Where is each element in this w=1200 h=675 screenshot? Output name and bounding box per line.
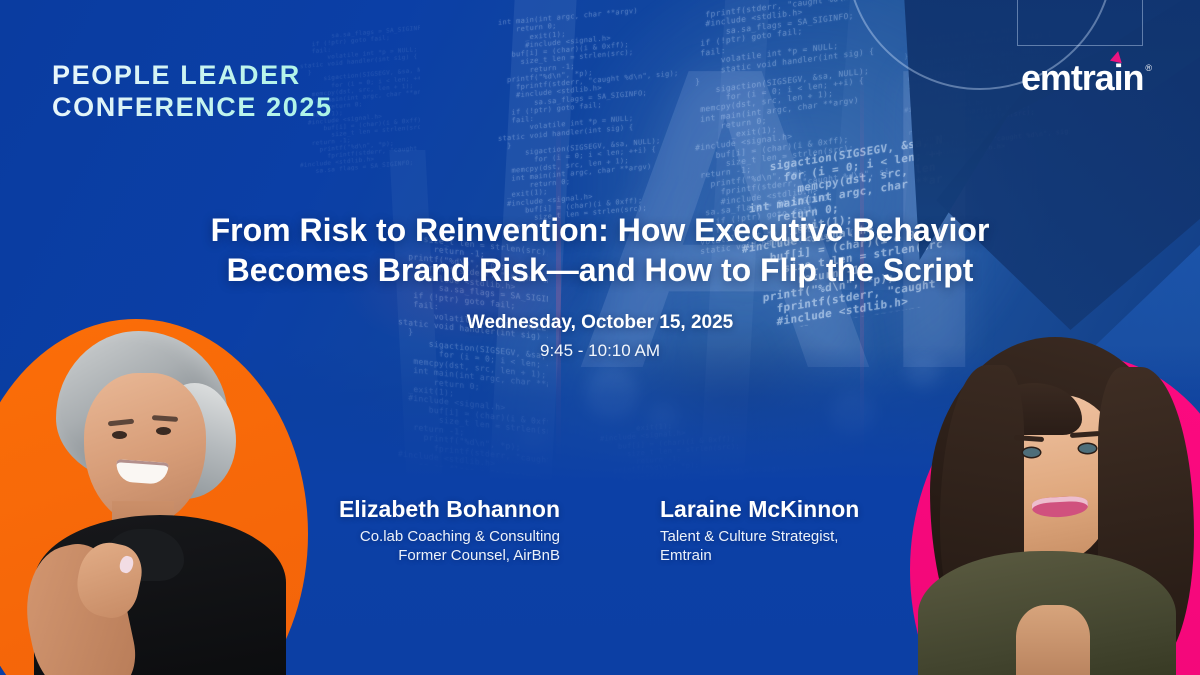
shirt-shape: [1016, 605, 1090, 675]
eye-shape: [112, 431, 127, 439]
speaker-role: Talent & Culture Strategist, Emtrain: [660, 527, 920, 567]
speaker-block-right: Laraine McKinnon Talent & Culture Strate…: [660, 496, 920, 566]
registered-trademark-mark: ®: [1145, 63, 1152, 73]
session-card: AI int main(int argc, char **argv) retur…: [0, 0, 1200, 675]
session-title: From Risk to Reinvention: How Executive …: [0, 210, 1200, 291]
speaker-role: Co.lab Coaching & Consulting Former Coun…: [300, 527, 560, 567]
emtrain-logo[interactable]: emtrain ®: [1021, 60, 1152, 96]
rectangle-outline-decoration: [1017, 0, 1143, 46]
eye-shape: [156, 427, 171, 435]
speaker-list: Elizabeth Bohannon Co.lab Coaching & Con…: [300, 496, 920, 566]
speaker-name: Laraine McKinnon: [660, 496, 920, 523]
eye-shape: [1079, 444, 1096, 453]
speaker-block-left: Elizabeth Bohannon Co.lab Coaching & Con…: [300, 496, 560, 566]
session-date: Wednesday, October 15, 2025: [0, 312, 1200, 334]
eye-shape: [1023, 448, 1040, 457]
emtrain-logo-wordmark: emtrain: [1021, 60, 1143, 96]
triangle-accent-icon: [1110, 50, 1124, 63]
session-time: 9:45 - 10:10 AM: [0, 341, 1200, 361]
speaker-name: Elizabeth Bohannon: [300, 496, 560, 523]
event-title: PEOPLE LEADER CONFERENCE 2025: [52, 60, 333, 124]
